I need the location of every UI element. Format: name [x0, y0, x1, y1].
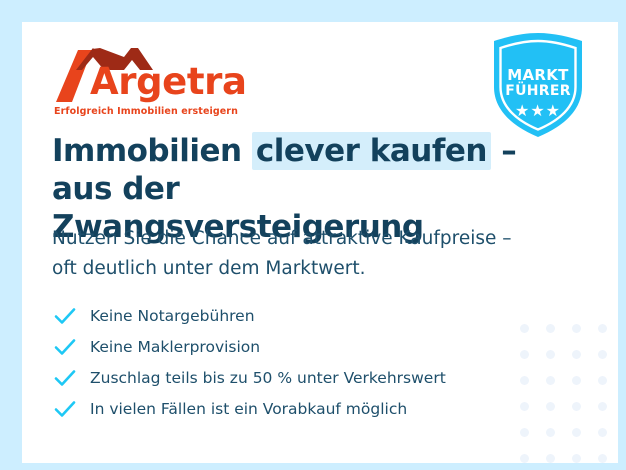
grid-dot [598, 324, 607, 333]
logo-wordmark: Argetra [90, 60, 247, 103]
check-icon [54, 369, 76, 387]
grid-dot [572, 350, 581, 359]
list-item: In vielen Fällen ist ein Vorabkauf mögli… [54, 393, 484, 424]
list-item-label: Zuschlag teils bis zu 50 % unter Verkehr… [90, 369, 446, 387]
subtitle-line-1: Nutzen Sie die Chance auf attraktive Kau… [52, 224, 522, 254]
grid-dot [598, 454, 607, 463]
grid-dot [546, 428, 555, 437]
markt-fuehrer-badge: MARKT FÜHRER ★★★ [488, 31, 588, 139]
grid-dot [520, 350, 529, 359]
grid-dot [520, 324, 529, 333]
list-item-label: Keine Notargebühren [90, 307, 255, 325]
list-item-label: Keine Maklerprovision [90, 338, 260, 356]
headline-pre: Immobilien [52, 133, 252, 169]
list-item: Keine Maklerprovision [54, 331, 484, 362]
grid-dot [520, 376, 529, 385]
badge-line-1: MARKT [488, 66, 588, 84]
check-icon [54, 338, 76, 356]
grid-dot [546, 454, 555, 463]
headline-line-1: Immobilien clever kaufen – [52, 132, 522, 170]
grid-dot [546, 402, 555, 411]
headline-post: – [491, 133, 516, 169]
subtitle-line-2: oft deutlich unter dem Marktwert. [52, 254, 522, 284]
grid-dot [572, 454, 581, 463]
grid-dot [572, 402, 581, 411]
grid-dot [572, 376, 581, 385]
grid-dot [520, 428, 529, 437]
grid-dot [598, 428, 607, 437]
list-item: Zuschlag teils bis zu 50 % unter Verkehr… [54, 362, 484, 393]
grid-dot [598, 376, 607, 385]
list-item-label: In vielen Fällen ist ein Vorabkauf mögli… [90, 400, 407, 418]
grid-dot [598, 402, 607, 411]
logo-tagline: Erfolgreich Immobilien ersteigern [54, 106, 238, 117]
argetra-logo: Argetra Erfolgreich Immobilien ersteiger… [52, 46, 227, 128]
check-icon [54, 400, 76, 418]
grid-dot [520, 454, 529, 463]
badge-line-2: FÜHRER [488, 83, 588, 99]
grid-dot [572, 428, 581, 437]
badge-stars: ★★★ [488, 101, 588, 121]
list-item: Keine Notargebühren [54, 300, 484, 331]
benefits-list: Keine Notargebühren Keine Maklerprovisio… [54, 300, 484, 424]
check-icon [54, 307, 76, 325]
grid-dot [546, 376, 555, 385]
grid-dot [598, 350, 607, 359]
poster-frame: Argetra Erfolgreich Immobilien ersteiger… [0, 0, 626, 470]
grid-dot [546, 324, 555, 333]
grid-dot [546, 350, 555, 359]
poster-card: Argetra Erfolgreich Immobilien ersteiger… [22, 22, 618, 463]
grid-dot [520, 402, 529, 411]
headline-highlight: clever kaufen [252, 132, 491, 170]
subtitle: Nutzen Sie die Chance auf attraktive Kau… [52, 224, 522, 284]
decorative-dot-grid [520, 324, 618, 463]
grid-dot [572, 324, 581, 333]
